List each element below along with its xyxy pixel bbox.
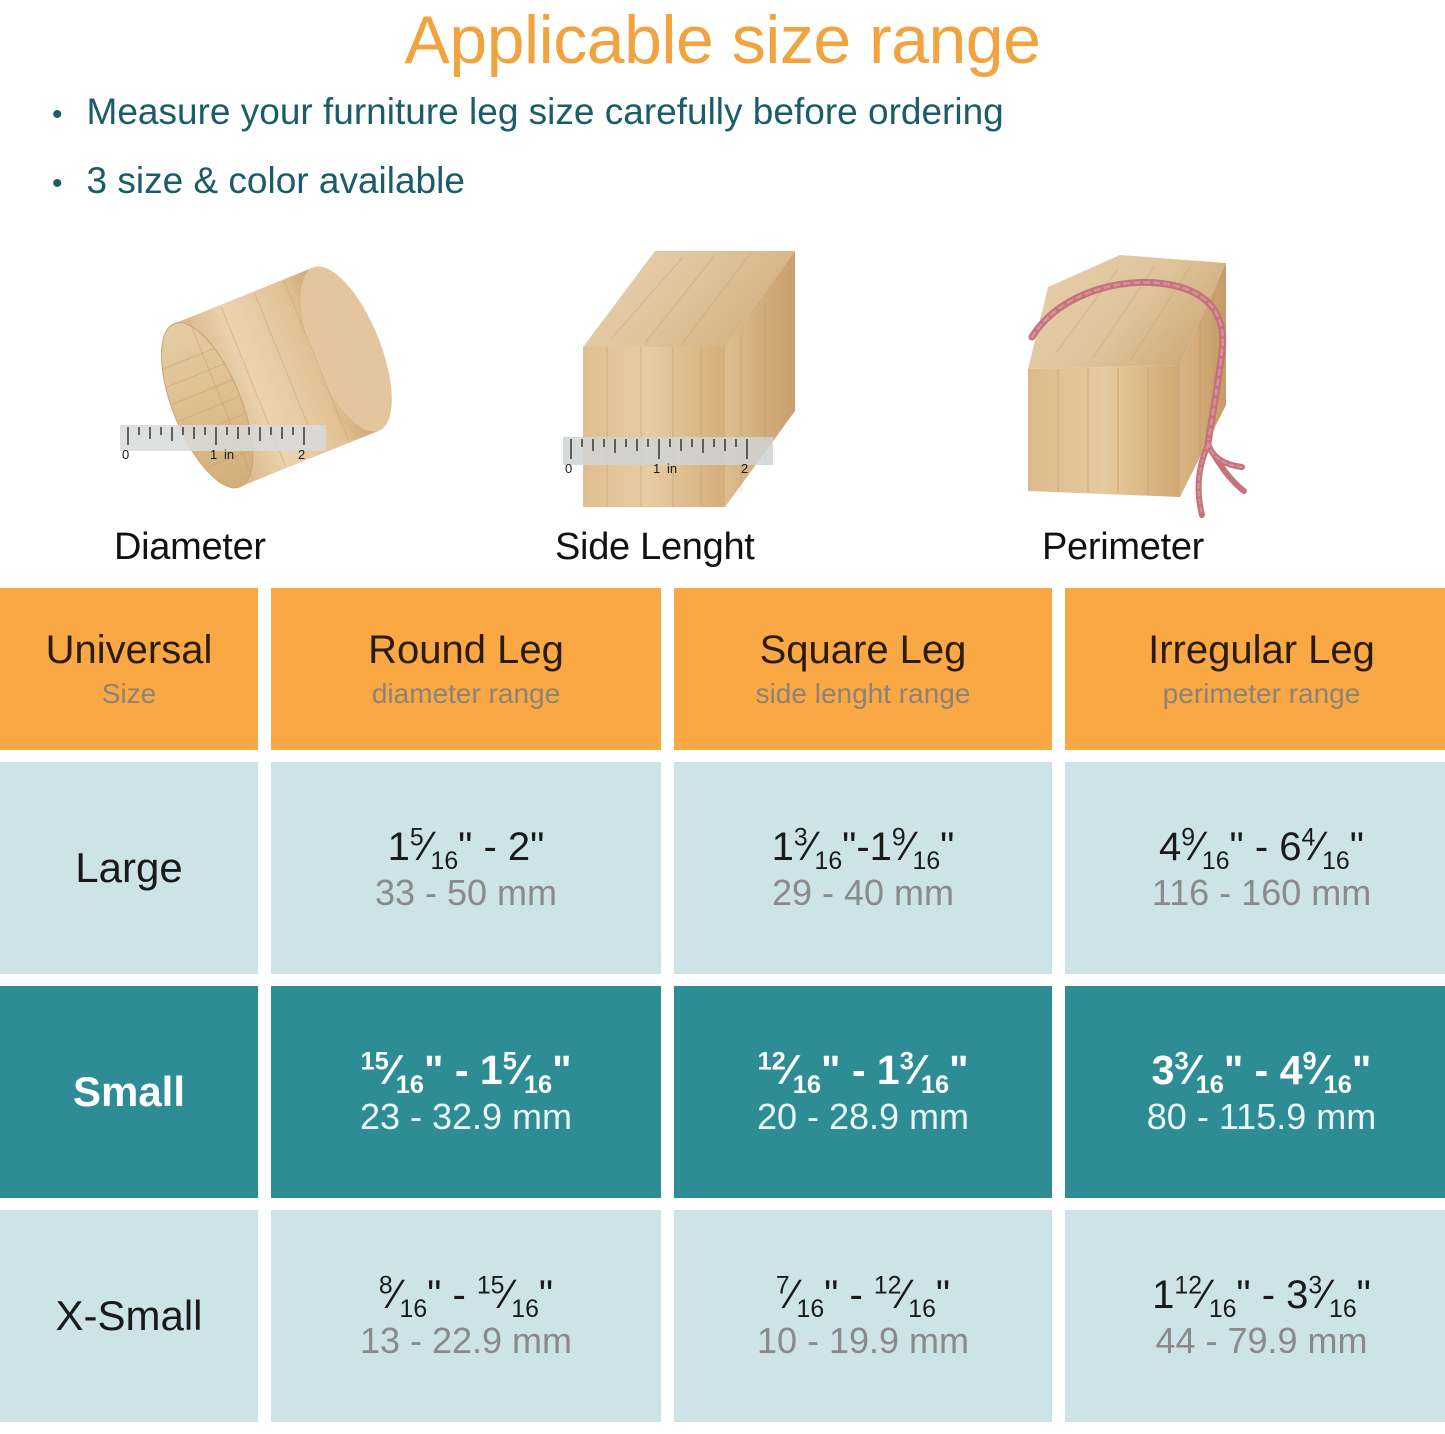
measurement-cell: 8⁄16" - 15⁄16"13 - 22.9 mm (271, 1210, 661, 1422)
measurement-cell: 7⁄16" - 12⁄16"10 - 19.9 mm (674, 1210, 1052, 1422)
fraction-denominator: 16 (400, 1296, 428, 1323)
fraction-denominator: 16 (431, 848, 459, 875)
fraction-denominator: 16 (913, 848, 941, 875)
inch-range-value: 112⁄16" - 33⁄16" (1152, 1273, 1371, 1316)
fraction-numerator: 15 (360, 1047, 388, 1075)
table-row: Small15⁄16" - 15⁄16"23 - 32.9 mm12⁄16" -… (0, 986, 1445, 1198)
fraction-slash: ⁄ (914, 1046, 921, 1093)
measurement-fraction: 7⁄16" (776, 1273, 838, 1316)
fraction-denominator: 16 (1324, 1071, 1352, 1099)
irregular-wood-leg-with-string-icon (1000, 229, 1360, 529)
fraction-denominator: 16 (1202, 848, 1230, 875)
bullet-text: Measure your furniture leg size carefull… (87, 92, 1004, 133)
table-body: Large15⁄16" - 2"33 - 50 mm13⁄16"-19⁄16"2… (0, 762, 1445, 1422)
mm-range-value: 13 - 22.9 mm (360, 1322, 572, 1360)
whole-number: 4 (1159, 825, 1181, 869)
svg-text:1: 1 (653, 461, 660, 476)
fraction-denominator: 16 (1196, 1071, 1224, 1099)
inch-range-value: 7⁄16" - 12⁄16" (776, 1273, 950, 1316)
measurement-cell: 49⁄16" - 64⁄16"116 - 160 mm (1065, 762, 1445, 974)
column-title: Round Leg (368, 629, 564, 671)
range-separator: - (838, 1273, 874, 1317)
range-separator: - (1244, 825, 1280, 869)
table-header-cell-round-leg: Round Leg diameter range (271, 588, 661, 750)
fraction-denominator: 16 (511, 1296, 539, 1323)
fraction-slash: ⁄ (393, 1271, 400, 1317)
range-separator: - (1251, 1273, 1287, 1317)
fraction-slash: ⁄ (1317, 1046, 1324, 1093)
size-label: Large (75, 844, 182, 892)
fraction-denominator: 16 (908, 1296, 936, 1323)
range-separator: - (1243, 1047, 1279, 1093)
inch-mark: " (936, 1273, 950, 1317)
range-separator: - (856, 825, 869, 869)
svg-text:in: in (224, 447, 234, 462)
inch-mark: " (1357, 1273, 1371, 1317)
column-title: Universal (46, 629, 213, 671)
whole-number: 2 (508, 825, 530, 869)
svg-text:2: 2 (741, 461, 748, 476)
table-header-cell-irregular-leg: Irregular Leg perimeter range (1065, 588, 1445, 750)
fraction-slash: ⁄ (1189, 1046, 1196, 1093)
measurement-fraction: 2" (508, 826, 544, 868)
measurement-fraction: 13⁄16" (772, 825, 857, 868)
measurement-fraction: 15⁄16" (477, 1273, 553, 1316)
measurement-illustrations: 0 1 in 2 Diameter (0, 229, 1445, 571)
measurement-cell: 12⁄16" - 13⁄16"20 - 28.9 mm (674, 986, 1052, 1198)
feature-bullet-list: • Measure your furniture leg size carefu… (0, 92, 1445, 201)
list-item: • Measure your furniture leg size carefu… (52, 92, 1445, 133)
inch-mark: " (1352, 1047, 1371, 1093)
illustration-side-length: 0 1 in 2 Side Lenght (545, 229, 905, 571)
measurement-fraction: 33⁄16" (1286, 1273, 1371, 1316)
inch-mark: " (1230, 825, 1244, 869)
range-separator: - (840, 1047, 876, 1093)
svg-text:0: 0 (565, 461, 572, 476)
bullet-dot-icon: • (52, 100, 63, 130)
measurement-cell: 33⁄16" - 49⁄16"80 - 115.9 mm (1065, 986, 1445, 1198)
svg-text:1: 1 (210, 447, 217, 462)
bullet-text: 3 size & color available (87, 161, 465, 202)
svg-text:in: in (667, 461, 677, 476)
fraction-numerator: 8 (379, 1272, 393, 1299)
measurement-fraction: 15⁄16" (388, 825, 473, 868)
whole-number: 1 (1152, 1273, 1174, 1317)
size-label-cell: Large (0, 762, 258, 974)
inch-mark: " (427, 1273, 441, 1317)
mm-range-value: 33 - 50 mm (375, 874, 557, 912)
measurement-fraction: 49⁄16" (1159, 825, 1244, 868)
whole-number: 1 (388, 825, 410, 869)
column-subtitle: side lenght range (756, 679, 971, 708)
inch-mark: " (824, 1273, 838, 1317)
fraction-denominator: 16 (793, 1071, 821, 1099)
inch-mark: " (842, 825, 856, 869)
inch-mark: " (1350, 825, 1364, 869)
fraction-slash: ⁄ (517, 1046, 524, 1093)
measurement-fraction: 12⁄16" (757, 1048, 840, 1092)
table-header-cell-universal-size: Universal Size (0, 588, 258, 750)
fraction-numerator: 3 (794, 824, 808, 851)
column-title: Square Leg (760, 629, 967, 671)
fraction-numerator: 5 (503, 1047, 517, 1075)
round-wood-leg-with-ruler-icon: 0 1 in 2 (92, 229, 452, 529)
fraction-denominator: 16 (1322, 848, 1350, 875)
size-label-cell: X-Small (0, 1210, 258, 1422)
fraction-slash: ⁄ (389, 1046, 396, 1093)
inch-range-value: 49⁄16" - 64⁄16" (1159, 825, 1364, 868)
mm-range-value: 116 - 160 mm (1152, 874, 1371, 912)
fraction-slash: ⁄ (424, 823, 431, 869)
list-item: • 3 size & color available (52, 161, 1445, 202)
fraction-numerator: 4 (1302, 824, 1316, 851)
column-subtitle: diameter range (372, 679, 560, 708)
inch-mark: " (539, 1273, 553, 1317)
mm-range-value: 10 - 19.9 mm (757, 1322, 969, 1360)
illustration-caption: Diameter (92, 526, 452, 569)
mm-range-value: 29 - 40 mm (772, 874, 954, 912)
fraction-denominator: 16 (1209, 1296, 1237, 1323)
table-header-row: Universal Size Round Leg diameter range … (0, 588, 1445, 750)
measurement-fraction: 19⁄16" (870, 825, 955, 868)
inch-range-value: 12⁄16" - 13⁄16" (757, 1048, 968, 1092)
mm-range-value: 20 - 28.9 mm (757, 1098, 969, 1136)
inch-range-value: 13⁄16"-19⁄16" (772, 825, 955, 868)
fraction-slash: ⁄ (1195, 823, 1202, 869)
inch-mark: " (458, 825, 472, 869)
fraction-slash: ⁄ (1202, 1271, 1209, 1317)
fraction-numerator: 5 (410, 824, 424, 851)
illustration-caption: Side Lenght (545, 526, 905, 569)
fraction-denominator: 16 (524, 1071, 552, 1099)
inch-mark: " (552, 1047, 571, 1093)
fraction-numerator: 12 (874, 1272, 902, 1299)
size-chart-table: Universal Size Round Leg diameter range … (0, 588, 1445, 1434)
illustration-perimeter: Perimeter (1000, 229, 1360, 571)
fraction-denominator: 16 (797, 1296, 825, 1323)
svg-text:2: 2 (298, 447, 305, 462)
fraction-numerator: 9 (892, 824, 906, 851)
fraction-numerator: 9 (1181, 824, 1195, 851)
inch-range-value: 33⁄16" - 49⁄16" (1152, 1048, 1372, 1092)
size-label: X-Small (55, 1292, 202, 1340)
range-separator: - (472, 825, 508, 869)
column-title: Irregular Leg (1148, 629, 1375, 671)
measurement-fraction: 112⁄16" (1152, 1273, 1250, 1316)
table-row: Large15⁄16" - 2"33 - 50 mm13⁄16"-19⁄16"2… (0, 762, 1445, 974)
whole-number: 1 (480, 1047, 503, 1093)
inch-mark: " (1224, 1047, 1243, 1093)
measurement-fraction: 64⁄16" (1279, 825, 1364, 868)
inch-mark: " (949, 1047, 968, 1093)
fraction-denominator: 16 (815, 848, 843, 875)
fraction-numerator: 3 (1308, 1272, 1322, 1299)
measurement-cell: 15⁄16" - 2"33 - 50 mm (271, 762, 661, 974)
fraction-numerator: 3 (900, 1047, 914, 1075)
square-wood-leg-with-ruler-icon: 0 1 in 2 (545, 229, 905, 529)
fraction-numerator: 9 (1303, 1047, 1317, 1075)
measurement-cell: 15⁄16" - 15⁄16"23 - 32.9 mm (271, 986, 661, 1198)
fraction-denominator: 16 (396, 1071, 424, 1099)
fraction-numerator: 7 (776, 1272, 790, 1299)
measurement-fraction: 33⁄16" (1152, 1048, 1244, 1092)
bullet-dot-icon: • (52, 169, 63, 199)
measurement-cell: 13⁄16"-19⁄16"29 - 40 mm (674, 762, 1052, 974)
inch-range-value: 15⁄16" - 2" (388, 825, 545, 868)
measurement-fraction: 13⁄16" (877, 1048, 969, 1092)
fraction-slash: ⁄ (786, 1046, 793, 1093)
mm-range-value: 44 - 79.9 mm (1155, 1322, 1367, 1360)
range-separator: - (441, 1273, 477, 1317)
whole-number: 3 (1152, 1047, 1175, 1093)
whole-number: 4 (1280, 1047, 1303, 1093)
page-title: Applicable size range (0, 0, 1445, 74)
whole-number: 1 (877, 1047, 900, 1093)
fraction-numerator: 3 (1174, 1047, 1188, 1075)
svg-text:0: 0 (122, 447, 129, 462)
column-subtitle: perimeter range (1163, 679, 1361, 708)
measurement-fraction: 8⁄16" (379, 1273, 441, 1316)
mm-range-value: 80 - 115.9 mm (1147, 1098, 1376, 1136)
column-subtitle: Size (102, 679, 156, 708)
inch-range-value: 15⁄16" - 15⁄16" (360, 1048, 571, 1092)
fraction-numerator: 12 (1174, 1272, 1202, 1299)
inch-mark: " (821, 1047, 840, 1093)
size-label: Small (73, 1068, 185, 1116)
table-header-cell-square-leg: Square Leg side lenght range (674, 588, 1052, 750)
fraction-numerator: 12 (757, 1047, 785, 1075)
whole-number: 1 (870, 825, 892, 869)
illustration-caption: Perimeter (1000, 526, 1360, 569)
measurement-cell: 112⁄16" - 33⁄16"44 - 79.9 mm (1065, 1210, 1445, 1422)
fraction-numerator: 15 (477, 1272, 505, 1299)
whole-number: 6 (1279, 825, 1301, 869)
inch-mark: " (530, 825, 544, 869)
measurement-fraction: 49⁄16" (1280, 1048, 1372, 1092)
inch-mark: " (424, 1047, 443, 1093)
inch-mark: " (1236, 1273, 1250, 1317)
fraction-slash: ⁄ (906, 823, 913, 869)
whole-number: 3 (1286, 1273, 1308, 1317)
table-row: X-Small8⁄16" - 15⁄16"13 - 22.9 mm7⁄16" -… (0, 1210, 1445, 1422)
size-label-cell: Small (0, 986, 258, 1198)
measurement-fraction: 15⁄16" (480, 1048, 572, 1092)
whole-number: 1 (772, 825, 794, 869)
mm-range-value: 23 - 32.9 mm (360, 1098, 572, 1136)
inch-range-value: 8⁄16" - 15⁄16" (379, 1273, 553, 1316)
illustration-diameter: 0 1 in 2 Diameter (92, 229, 452, 571)
measurement-fraction: 15⁄16" (360, 1048, 443, 1092)
fraction-denominator: 16 (921, 1071, 949, 1099)
inch-mark: " (940, 825, 954, 869)
measurement-fraction: 12⁄16" (874, 1273, 950, 1316)
fraction-slash: ⁄ (790, 1271, 797, 1317)
fraction-slash: ⁄ (808, 823, 815, 869)
fraction-denominator: 16 (1329, 1296, 1357, 1323)
range-separator: - (443, 1047, 479, 1093)
